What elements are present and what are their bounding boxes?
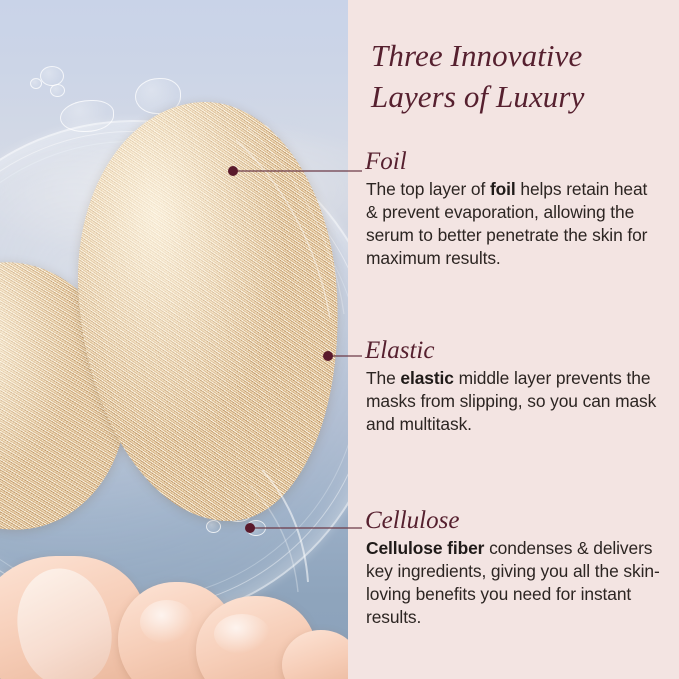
- body-bold: foil: [490, 179, 516, 199]
- section-elastic: Elastic The elastic middle layer prevent…: [348, 337, 679, 436]
- finger-gloss: [214, 614, 270, 654]
- product-infographic: Three Innovative Layers of Luxury Foil T…: [0, 0, 679, 679]
- gel-bubble: [30, 78, 42, 89]
- section-body-elastic: The elastic middle layer prevents the ma…: [366, 367, 663, 436]
- body-bold: elastic: [400, 368, 453, 388]
- section-body-foil: The top layer of foil helps retain heat …: [366, 178, 663, 271]
- section-cellulose: Cellulose Cellulose fiber condenses & de…: [348, 507, 679, 630]
- headline-line-2: Layers of Luxury: [371, 77, 671, 118]
- text-panel: Three Innovative Layers of Luxury Foil T…: [348, 0, 679, 679]
- page-title: Three Innovative Layers of Luxury: [371, 36, 671, 118]
- body-bold: Cellulose fiber: [366, 538, 484, 558]
- section-body-cellulose: Cellulose fiber condenses & delivers key…: [366, 537, 663, 630]
- section-heading-elastic: Elastic: [365, 337, 679, 365]
- finger-gloss: [140, 600, 194, 644]
- section-heading-cellulose: Cellulose: [365, 507, 679, 535]
- body-prefix: The: [366, 368, 400, 388]
- body-prefix: The top layer of: [366, 179, 490, 199]
- section-heading-foil: Foil: [365, 148, 679, 176]
- gel-bubble: [246, 520, 266, 536]
- headline-line-1: Three Innovative: [371, 36, 671, 77]
- product-photo: [0, 0, 348, 679]
- gel-bubble: [40, 66, 64, 86]
- section-foil: Foil The top layer of foil helps retain …: [348, 148, 679, 271]
- gel-bubble: [50, 84, 65, 97]
- gel-bubble: [206, 520, 221, 533]
